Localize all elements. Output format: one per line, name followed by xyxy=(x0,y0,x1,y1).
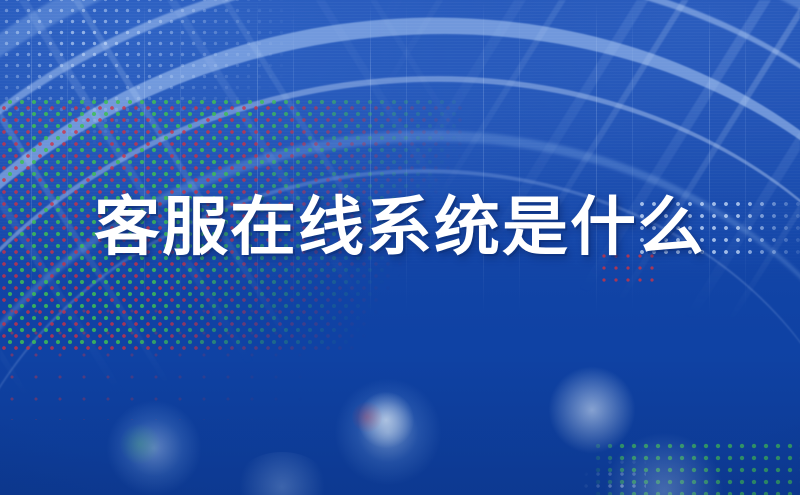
dot-field-red-sparse-left xyxy=(0,300,430,420)
page-title: 客服在线系统是什么 xyxy=(94,196,706,261)
dot-field-white-bottom-right xyxy=(568,456,646,495)
banner-image: 客服在线系统是什么 xyxy=(0,0,800,495)
headline-container: 客服在线系统是什么 xyxy=(0,196,800,261)
